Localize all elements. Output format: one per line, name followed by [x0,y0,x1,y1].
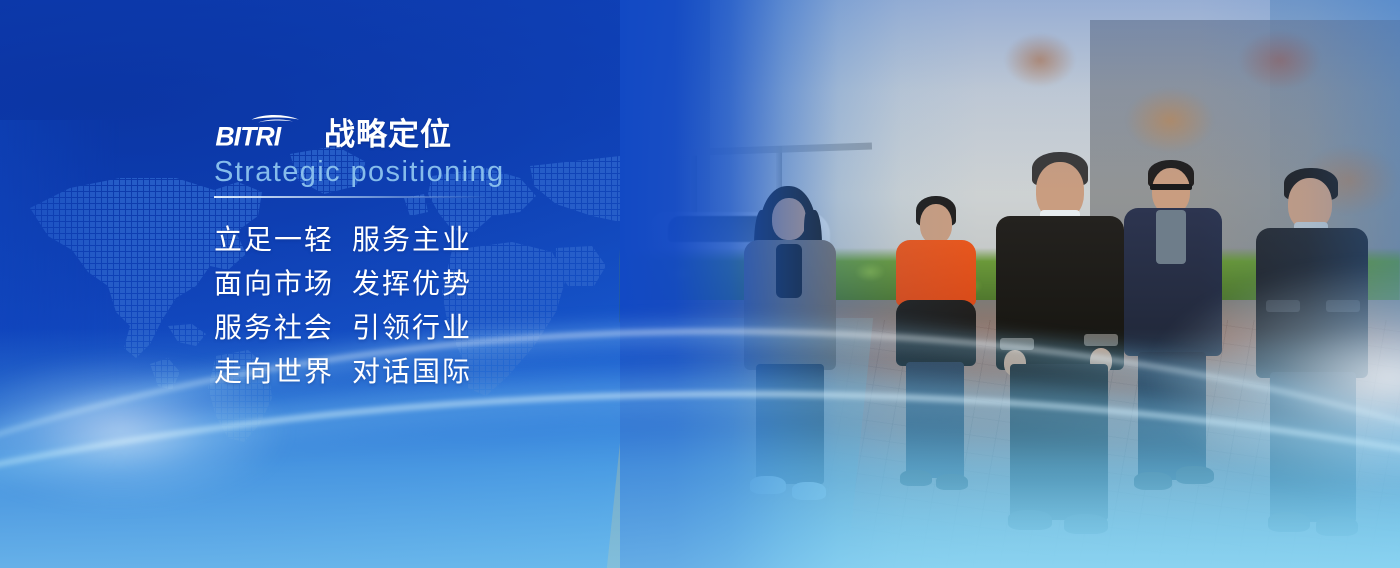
slogan-right: 服务主业 [352,218,472,262]
slogan-list: 立足一轻 服务主业 面向市场 发挥优势 服务社会 引领行业 走向世界 对话国际 [214,218,734,394]
slogan-right: 引领行业 [352,306,472,350]
slogan-row: 面向市场 发挥优势 [214,262,734,306]
slogan-left: 服务社会 [214,306,352,350]
title-divider [214,196,490,198]
slogan-left: 立足一轻 [214,218,352,262]
bitri-logo: BITRI [214,112,310,152]
slogan-right: 对话国际 [352,350,472,394]
photo-left-blue-blend [620,0,1400,568]
campus-walk-photo [620,0,1400,568]
strategic-positioning-banner: BITRI 战略定位 Strategic positioning 立足一轻 服务… [0,0,1400,568]
slogan-left: 面向市场 [214,262,352,306]
slogan-left: 走向世界 [214,350,352,394]
svg-text:BITRI: BITRI [215,121,281,151]
slogan-row: 立足一轻 服务主业 [214,218,734,262]
slogan-right: 发挥优势 [352,262,472,306]
banner-content: BITRI 战略定位 Strategic positioning 立足一轻 服务… [214,108,734,394]
slogan-row: 服务社会 引领行业 [214,306,734,350]
slogan-row: 走向世界 对话国际 [214,350,734,394]
subtitle-english: Strategic positioning [214,155,734,189]
title-chinese: 战略定位 [324,118,452,152]
title-row: BITRI 战略定位 [214,108,734,152]
